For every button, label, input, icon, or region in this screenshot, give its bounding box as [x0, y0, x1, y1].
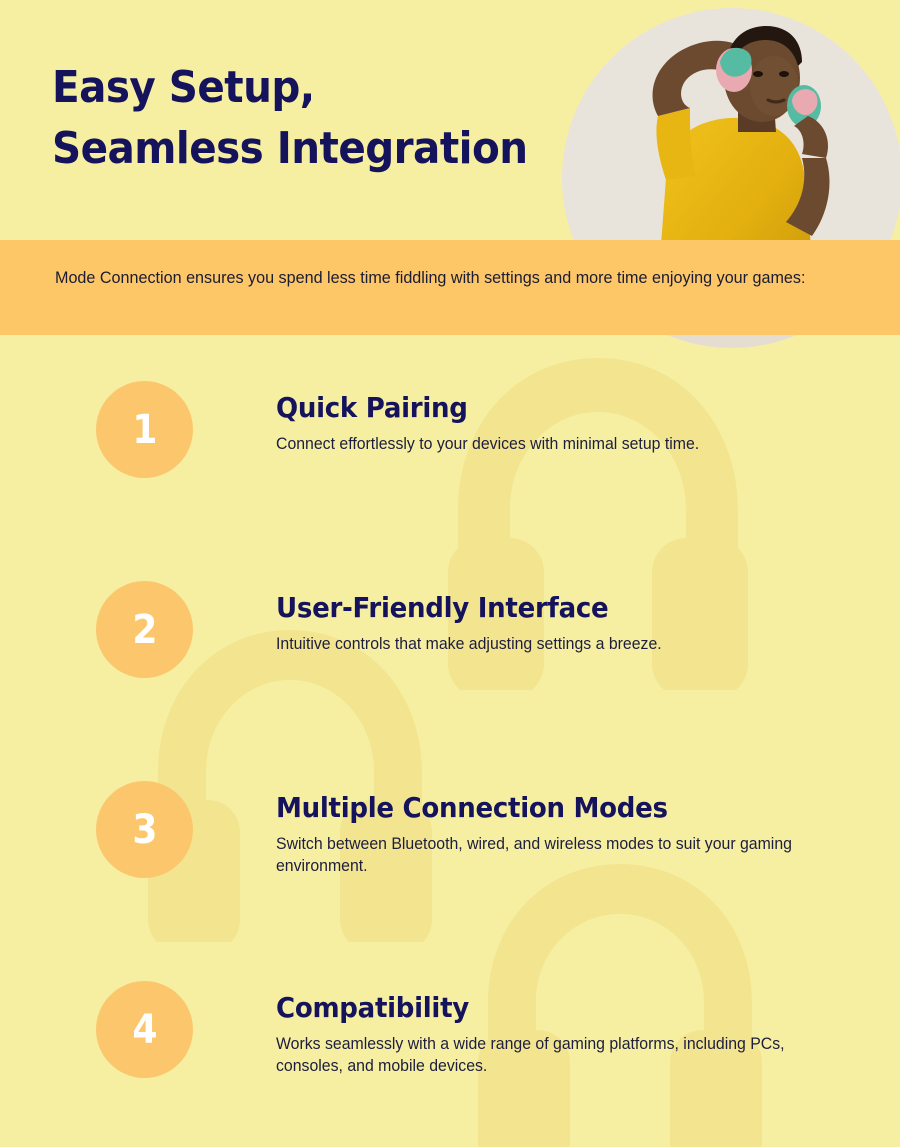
- feature-number-badge: 4: [96, 981, 193, 1078]
- list-item: 4 Compatibility Works seamlessly with a …: [0, 935, 900, 1135]
- feature-text-block: Multiple Connection Modes Switch between…: [276, 791, 866, 877]
- list-item: 3 Multiple Connection Modes Switch betwe…: [0, 735, 900, 935]
- feature-text-block: User-Friendly Interface Intuitive contro…: [276, 591, 866, 655]
- feature-description: Intuitive controls that make adjusting s…: [276, 633, 842, 655]
- subtitle-band: Mode Connection ensures you spend less t…: [0, 240, 900, 335]
- feature-title: User-Friendly Interface: [276, 591, 825, 624]
- feature-number: 2: [132, 610, 157, 650]
- list-item: 1 Quick Pairing Connect effortlessly to …: [0, 335, 900, 535]
- page-title: Easy Setup, Seamless Integration: [52, 58, 567, 179]
- feature-description: Switch between Bluetooth, wired, and wir…: [276, 833, 842, 877]
- feature-text-block: Compatibility Works seamlessly with a wi…: [276, 991, 866, 1077]
- feature-number-badge: 3: [96, 781, 193, 878]
- feature-title: Compatibility: [276, 991, 825, 1024]
- feature-description: Works seamlessly with a wide range of ga…: [276, 1033, 842, 1077]
- list-item: 2 User-Friendly Interface Intuitive cont…: [0, 535, 900, 735]
- feature-number: 3: [132, 810, 157, 850]
- hero-header: Easy Setup, Seamless Integration: [0, 0, 900, 240]
- infographic-poster: Easy Setup, Seamless Integration Mode Co…: [0, 0, 900, 1147]
- feature-number-badge: 1: [96, 381, 193, 478]
- feature-title: Quick Pairing: [276, 391, 825, 424]
- feature-number: 1: [132, 410, 157, 450]
- feature-description: Connect effortlessly to your devices wit…: [276, 433, 842, 455]
- feature-number-badge: 2: [96, 581, 193, 678]
- feature-list: 1 Quick Pairing Connect effortlessly to …: [0, 335, 900, 1135]
- feature-number: 4: [132, 1010, 157, 1050]
- feature-title: Multiple Connection Modes: [276, 791, 825, 824]
- subtitle-text: Mode Connection ensures you spend less t…: [55, 266, 806, 290]
- feature-text-block: Quick Pairing Connect effortlessly to yo…: [276, 391, 866, 455]
